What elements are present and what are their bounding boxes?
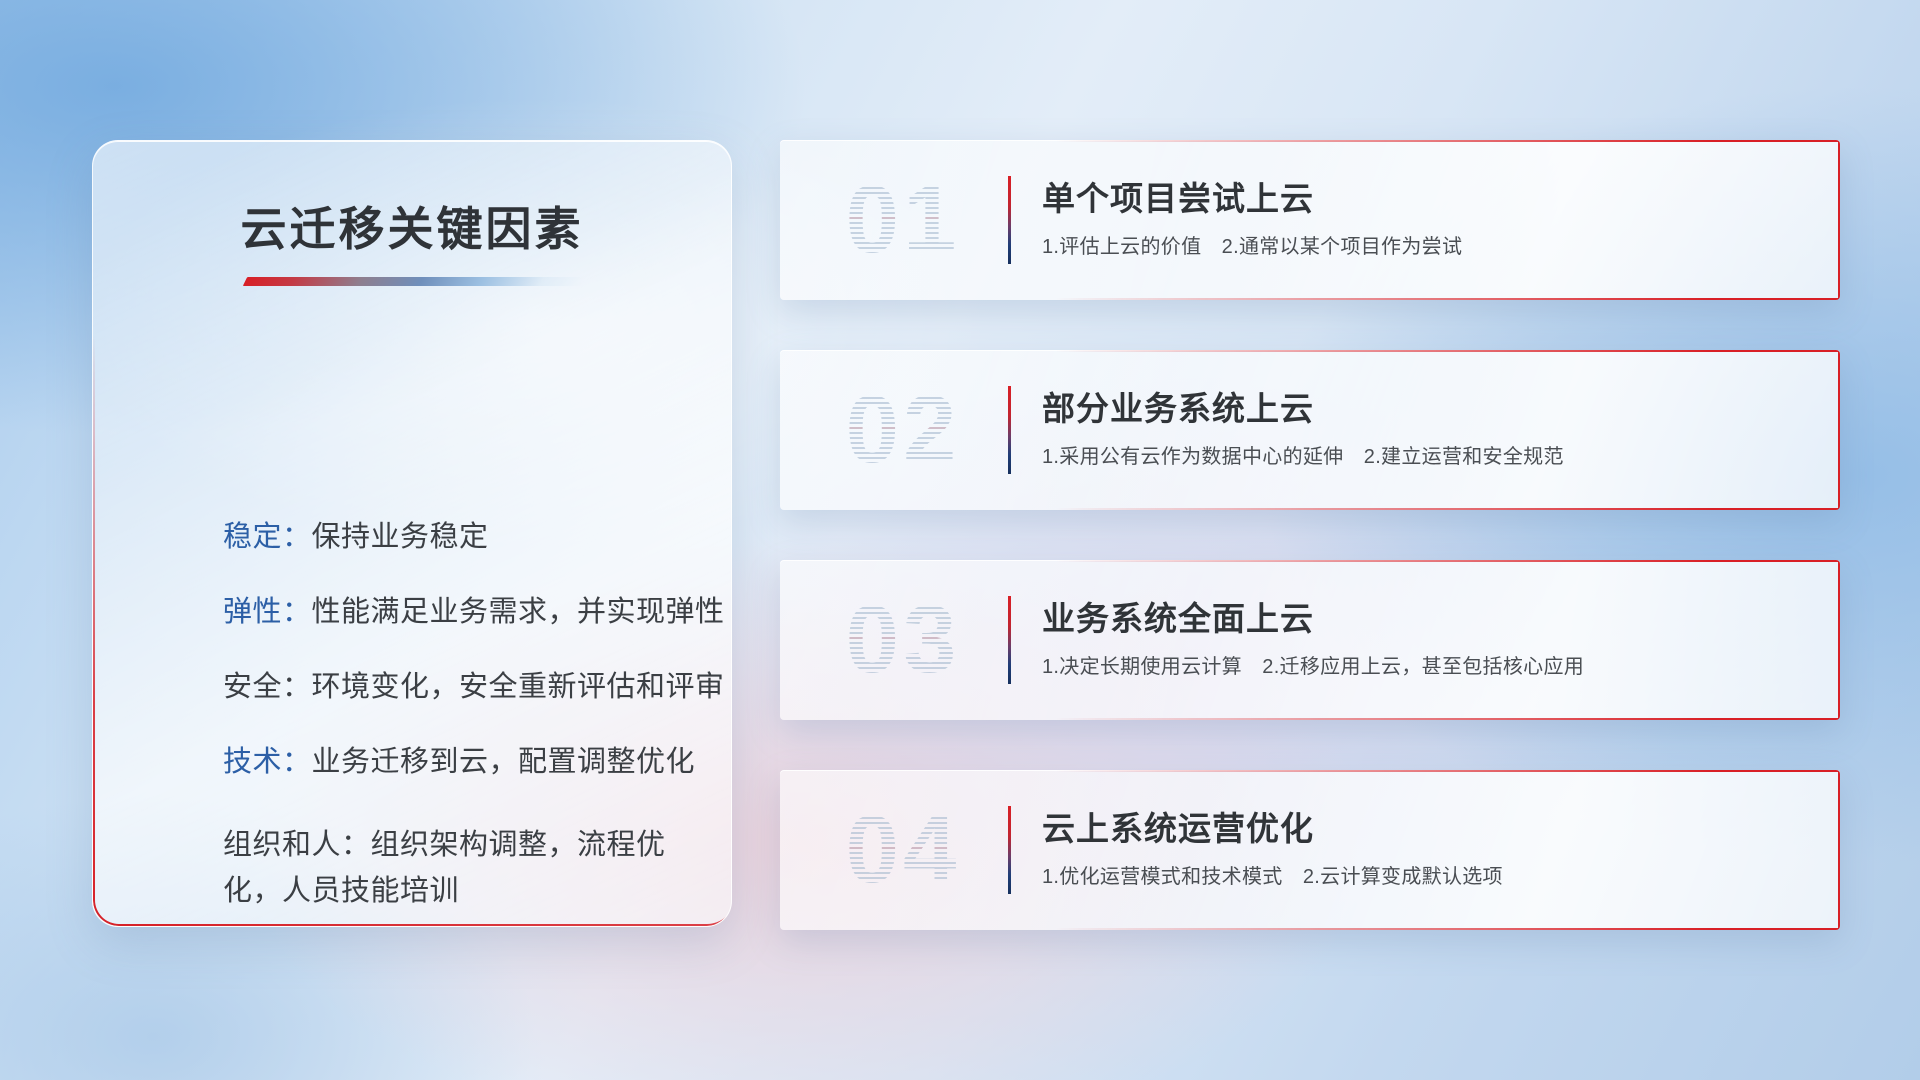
title-underline-gradient <box>243 277 585 286</box>
step-title: 云上系统运营优化 <box>1042 802 1314 850</box>
step-card-02[interactable]: 02 02 部分业务系统上云 1.采用公有云作为数据中心的延伸 2.建立运营和安… <box>780 350 1840 510</box>
step-number-glitch-overlay: 01 <box>818 162 988 278</box>
step-divider-bar <box>1008 806 1011 894</box>
step-card-03[interactable]: 03 03 业务系统全面上云 1.决定长期使用云计算 2.迁移应用上云，甚至包括… <box>780 560 1840 720</box>
step-card-04[interactable]: 04 04 云上系统运营优化 1.优化运营模式和技术模式 2.云计算变成默认选项 <box>780 770 1840 930</box>
card-red-edge-accent <box>780 350 1840 510</box>
list-item-text: 性能满足业务需求，并实现弹性 <box>312 596 725 628</box>
list-item: 安全：环境变化，安全重新评估和评审 <box>223 673 683 702</box>
step-title: 业务系统全面上云 <box>1042 592 1314 640</box>
list-item-label: 组织和人： <box>223 829 371 861</box>
key-factors-list: 稳定：保持业务稳定 弹性：性能满足业务需求，并实现弹性 安全：环境变化，安全重新… <box>223 523 683 927</box>
list-item-label: 技术： <box>223 746 312 778</box>
list-item-text: 业务迁移到云，配置调整优化 <box>312 746 696 778</box>
list-item-label: 稳定： <box>223 521 312 553</box>
list-item: 技术：业务迁移到云，配置调整优化 <box>223 748 683 777</box>
page-title: 云迁移关键因素 <box>93 193 731 259</box>
step-card-01[interactable]: 01 01 单个项目尝试上云 1.评估上云的价值 2.通常以某个项目作为尝试 <box>780 140 1840 300</box>
card-sheen <box>780 140 1395 300</box>
list-item-text: 环境变化，安全重新评估和评审 <box>312 671 725 703</box>
step-divider-bar <box>1008 596 1011 684</box>
list-item-text: 保持业务稳定 <box>312 521 489 553</box>
list-item: 组织和人：组织架构调整，流程优化，人员技能培训 <box>223 823 683 915</box>
step-number-text: 04 <box>846 796 961 903</box>
step-description: 1.采用公有云作为数据中心的延伸 2.建立运营和安全规范 <box>1042 440 1564 469</box>
list-item-label: 安全： <box>223 671 312 703</box>
key-factors-panel: 云迁移关键因素 稳定：保持业务稳定 弹性：性能满足业务需求，并实现弹性 安全：环… <box>92 140 732 927</box>
list-item: 稳定：保持业务稳定 <box>223 523 683 552</box>
list-item: 弹性：性能满足业务需求，并实现弹性 <box>223 598 683 627</box>
step-number-ghost: 04 04 <box>818 792 988 908</box>
step-divider-bar <box>1008 176 1011 264</box>
list-item-label: 弹性： <box>223 596 312 628</box>
card-red-edge-accent <box>780 770 1840 930</box>
card-red-edge-accent <box>780 140 1840 300</box>
card-sheen <box>780 350 1395 510</box>
step-title: 单个项目尝试上云 <box>1042 172 1314 220</box>
step-divider-bar <box>1008 386 1011 474</box>
step-number-glitch-overlay: 03 <box>818 582 988 698</box>
step-description: 1.评估上云的价值 2.通常以某个项目作为尝试 <box>1042 230 1462 259</box>
step-number-text: 01 <box>846 166 961 273</box>
step-number-text: 02 <box>846 376 961 483</box>
card-sheen <box>780 560 1395 720</box>
step-number-text: 03 <box>846 586 961 693</box>
step-number-ghost: 03 03 <box>818 582 988 698</box>
step-description: 1.优化运营模式和技术模式 2.云计算变成默认选项 <box>1042 860 1503 889</box>
card-sheen <box>780 770 1395 930</box>
step-number-glitch-overlay: 02 <box>818 372 988 488</box>
step-number-glitch-overlay: 04 <box>818 792 988 908</box>
step-description: 1.决定长期使用云计算 2.迁移应用上云，甚至包括核心应用 <box>1042 650 1584 679</box>
card-red-edge-accent <box>780 560 1840 720</box>
step-title: 部分业务系统上云 <box>1042 382 1314 430</box>
step-number-ghost: 01 01 <box>818 162 988 278</box>
step-number-ghost: 02 02 <box>818 372 988 488</box>
